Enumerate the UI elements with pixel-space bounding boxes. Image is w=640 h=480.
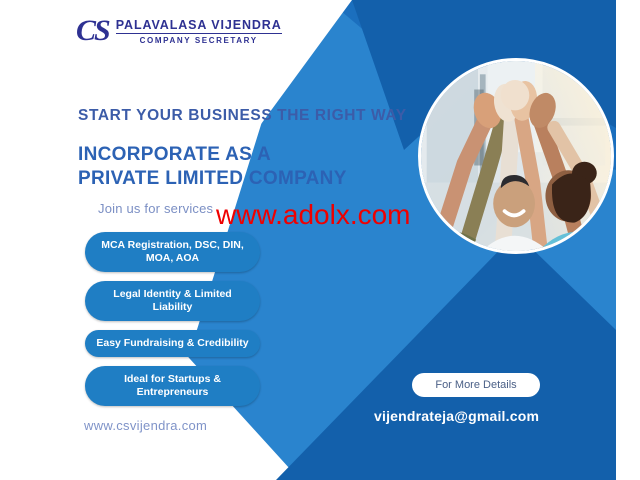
team-photo (418, 58, 614, 254)
team-high-five-illustration (421, 61, 611, 251)
logo-divider (116, 33, 282, 35)
poster-canvas: CS PALAVALASA VIJENDRA COMPANY SECRETARY… (0, 0, 640, 480)
website-url[interactable]: www.csvijendra.com (84, 418, 207, 433)
logo-wordmark: PALAVALASA VIJENDRA COMPANY SECRETARY (116, 18, 282, 45)
headline-line-1: INCORPORATE AS A (78, 143, 347, 167)
logo-name: PALAVALASA VIJENDRA (116, 18, 282, 32)
logo-subtitle: COMPANY SECRETARY (140, 36, 258, 45)
headline: INCORPORATE AS A PRIVATE LIMITED COMPANY (78, 143, 347, 191)
service-pill: Easy Fundraising & Credibility (85, 330, 260, 357)
shape-right-white-margin (616, 0, 640, 480)
for-more-details-button[interactable]: For More Details (412, 373, 540, 397)
contact-email[interactable]: vijendrateja@gmail.com (374, 408, 539, 424)
eyebrow-text: START YOUR BUSINESS THE RIGHT WAY (78, 107, 407, 125)
service-pill: Ideal for Startups & Entrepreneurs (85, 366, 260, 406)
service-pill: Legal Identity & Limited Liability (85, 281, 260, 321)
service-list: MCA Registration, DSC, DIN, MOA, AOA Leg… (85, 232, 260, 406)
service-pill: MCA Registration, DSC, DIN, MOA, AOA (85, 232, 260, 272)
logo-monogram: CS (76, 16, 109, 46)
brand-logo: CS PALAVALASA VIJENDRA COMPANY SECRETARY (76, 16, 282, 46)
headline-line-2: PRIVATE LIMITED COMPANY (78, 167, 347, 191)
watermark-text: www.adolx.com (216, 199, 411, 231)
subhead-text: Join us for services (98, 201, 213, 216)
